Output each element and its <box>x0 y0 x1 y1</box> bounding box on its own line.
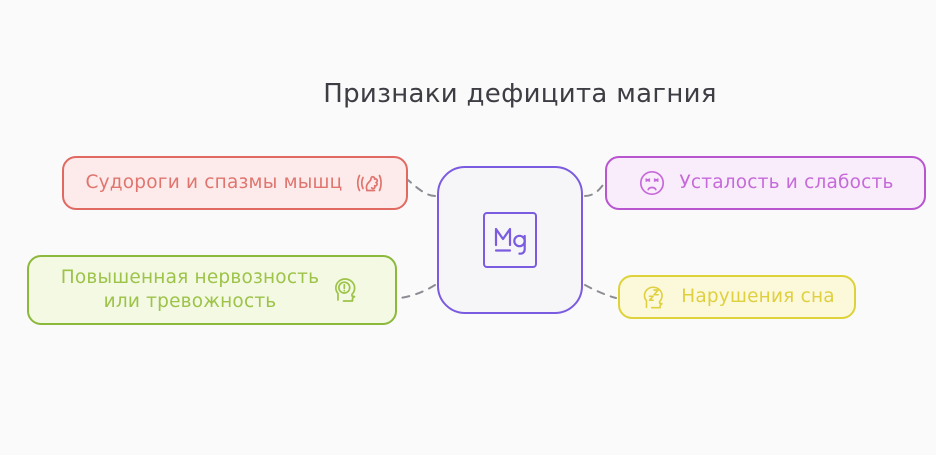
connector-center-to-cramps <box>408 180 435 196</box>
symptom-label-cramps: Судороги и спазмы мышц <box>86 171 343 195</box>
connector-center-to-anxiety <box>399 285 435 298</box>
symptom-card-anxiety[interactable]: Повышенная нервозность или тревожность <box>27 255 397 325</box>
connector-center-to-fatigue <box>585 182 605 196</box>
connector-center-to-sleep <box>585 285 616 298</box>
central-node-magnesium[interactable] <box>437 166 583 314</box>
sleeping-head-icon <box>639 282 669 312</box>
muscle-cramp-icon <box>354 168 384 198</box>
symptom-label-anxiety: Повышенная нервозность или тревожность <box>61 266 320 314</box>
anxious-head-icon <box>331 274 363 306</box>
mg-badge <box>483 212 537 268</box>
infographic-canvas: Признаки дефицита магния <box>0 0 936 455</box>
symptom-card-fatigue[interactable]: Усталость и слабость <box>605 156 926 210</box>
symptom-label-fatigue: Усталость и слабость <box>679 171 893 195</box>
symptom-card-sleep[interactable]: Нарушения сна <box>618 275 856 319</box>
tired-face-icon <box>637 168 667 198</box>
page-title: Признаки дефицита магния <box>0 79 936 109</box>
mg-symbol-icon <box>488 220 532 260</box>
symptom-card-cramps[interactable]: Судороги и спазмы мышц <box>62 156 408 210</box>
symptom-label-sleep: Нарушения сна <box>681 285 835 309</box>
